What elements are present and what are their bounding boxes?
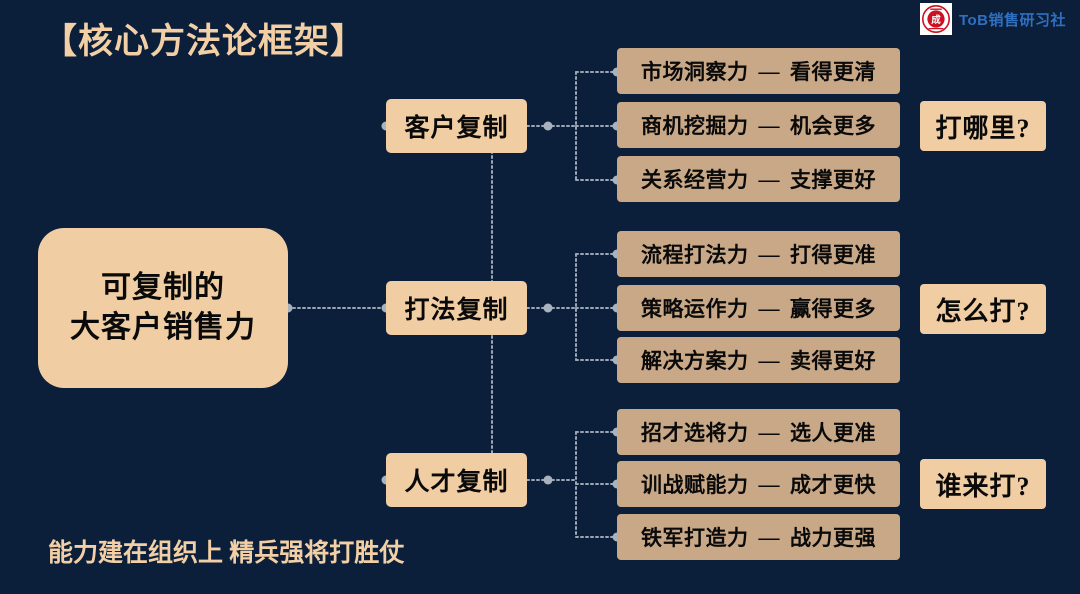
root-node[interactable]: 可复制的 大客户销售力 [38,228,288,388]
question-label-3-text: 谁来打? [935,466,1030,503]
leaf-node-2-2-outcome: 赢得更多 [790,293,876,323]
seal-icon: 成 [920,3,952,35]
leaf-node-3-2-dash: — [749,472,791,497]
methodology-framework-slide: 【核心方法论框架】 成 ToB销售研习社 [0,0,1080,594]
branch-node-1-label: 客户复制 [404,108,508,144]
leaf-node-3-3-capability: 铁军打造力 [641,522,749,552]
question-label-3[interactable]: 谁来打? [920,459,1046,509]
leaf-node-2-3-capability: 解决方案力 [641,345,749,375]
page-title: 【核心方法论框架】 [42,20,366,64]
root-node-line2: 大客户销售力 [70,308,256,348]
branch-node-3-label: 人才复制 [404,462,508,498]
leaf-node-2-1[interactable]: 流程打法力 — 打得更准 [617,231,900,277]
leaf-node-3-2-capability: 训战赋能力 [641,469,749,499]
leaf-node-1-1-capability: 市场洞察力 [641,56,749,86]
branch-node-3[interactable]: 人才复制 [386,453,527,507]
question-label-1-text: 打哪里? [935,108,1030,145]
leaf-node-1-2-outcome: 机会更多 [790,110,876,140]
question-label-2-text: 怎么打? [935,291,1030,328]
leaf-node-1-1-dash: — [749,59,791,84]
leaf-node-1-2-dash: — [749,113,791,138]
leaf-node-3-3[interactable]: 铁军打造力 — 战力更强 [617,514,900,560]
leaf-node-1-2[interactable]: 商机挖掘力 — 机会更多 [617,102,900,148]
leaf-node-2-1-outcome: 打得更准 [790,239,876,269]
leaf-node-3-1-dash: — [749,420,791,445]
leaf-node-2-3[interactable]: 解决方案力 — 卖得更好 [617,337,900,383]
question-label-1[interactable]: 打哪里? [920,101,1046,151]
branch-node-2[interactable]: 打法复制 [386,281,527,335]
leaf-node-3-1-capability: 招才选将力 [641,417,749,447]
branch-node-2-label: 打法复制 [404,290,508,326]
leaf-node-1-3-dash: — [749,167,791,192]
leaf-node-3-3-outcome: 战力更强 [790,522,876,552]
root-node-line1: 可复制的 [70,268,256,308]
branch-node-1[interactable]: 客户复制 [386,99,527,153]
question-label-2[interactable]: 怎么打? [920,284,1046,334]
leaf-node-2-3-outcome: 卖得更好 [790,345,876,375]
leaf-node-2-2[interactable]: 策略运作力 — 赢得更多 [617,285,900,331]
brand-logo: 成 ToB销售研习社 [920,3,1066,35]
svg-text:成: 成 [931,14,941,26]
leaf-node-2-1-capability: 流程打法力 [641,239,749,269]
leaf-node-3-2[interactable]: 训战赋能力 — 成才更快 [617,461,900,507]
leaf-node-2-3-dash: — [749,348,791,373]
leaf-node-1-3-outcome: 支撑更好 [790,164,876,194]
leaf-node-1-3-capability: 关系经营力 [641,164,749,194]
leaf-node-3-1-outcome: 选人更准 [790,417,876,447]
leaf-node-1-1-outcome: 看得更清 [790,56,876,86]
leaf-node-1-1[interactable]: 市场洞察力 — 看得更清 [617,48,900,94]
leaf-node-1-3[interactable]: 关系经营力 — 支撑更好 [617,156,900,202]
leaf-node-3-2-outcome: 成才更快 [790,469,876,499]
leaf-node-2-1-dash: — [749,242,791,267]
leaf-node-2-2-dash: — [749,296,791,321]
leaf-node-3-3-dash: — [749,525,791,550]
footer-slogan: 能力建在组织上 精兵强将打胜仗 [48,538,404,570]
leaf-node-2-2-capability: 策略运作力 [641,293,749,323]
leaf-node-3-1[interactable]: 招才选将力 — 选人更准 [617,409,900,455]
brand-name: ToB销售研习社 [959,9,1066,30]
leaf-node-1-2-capability: 商机挖掘力 [641,110,749,140]
